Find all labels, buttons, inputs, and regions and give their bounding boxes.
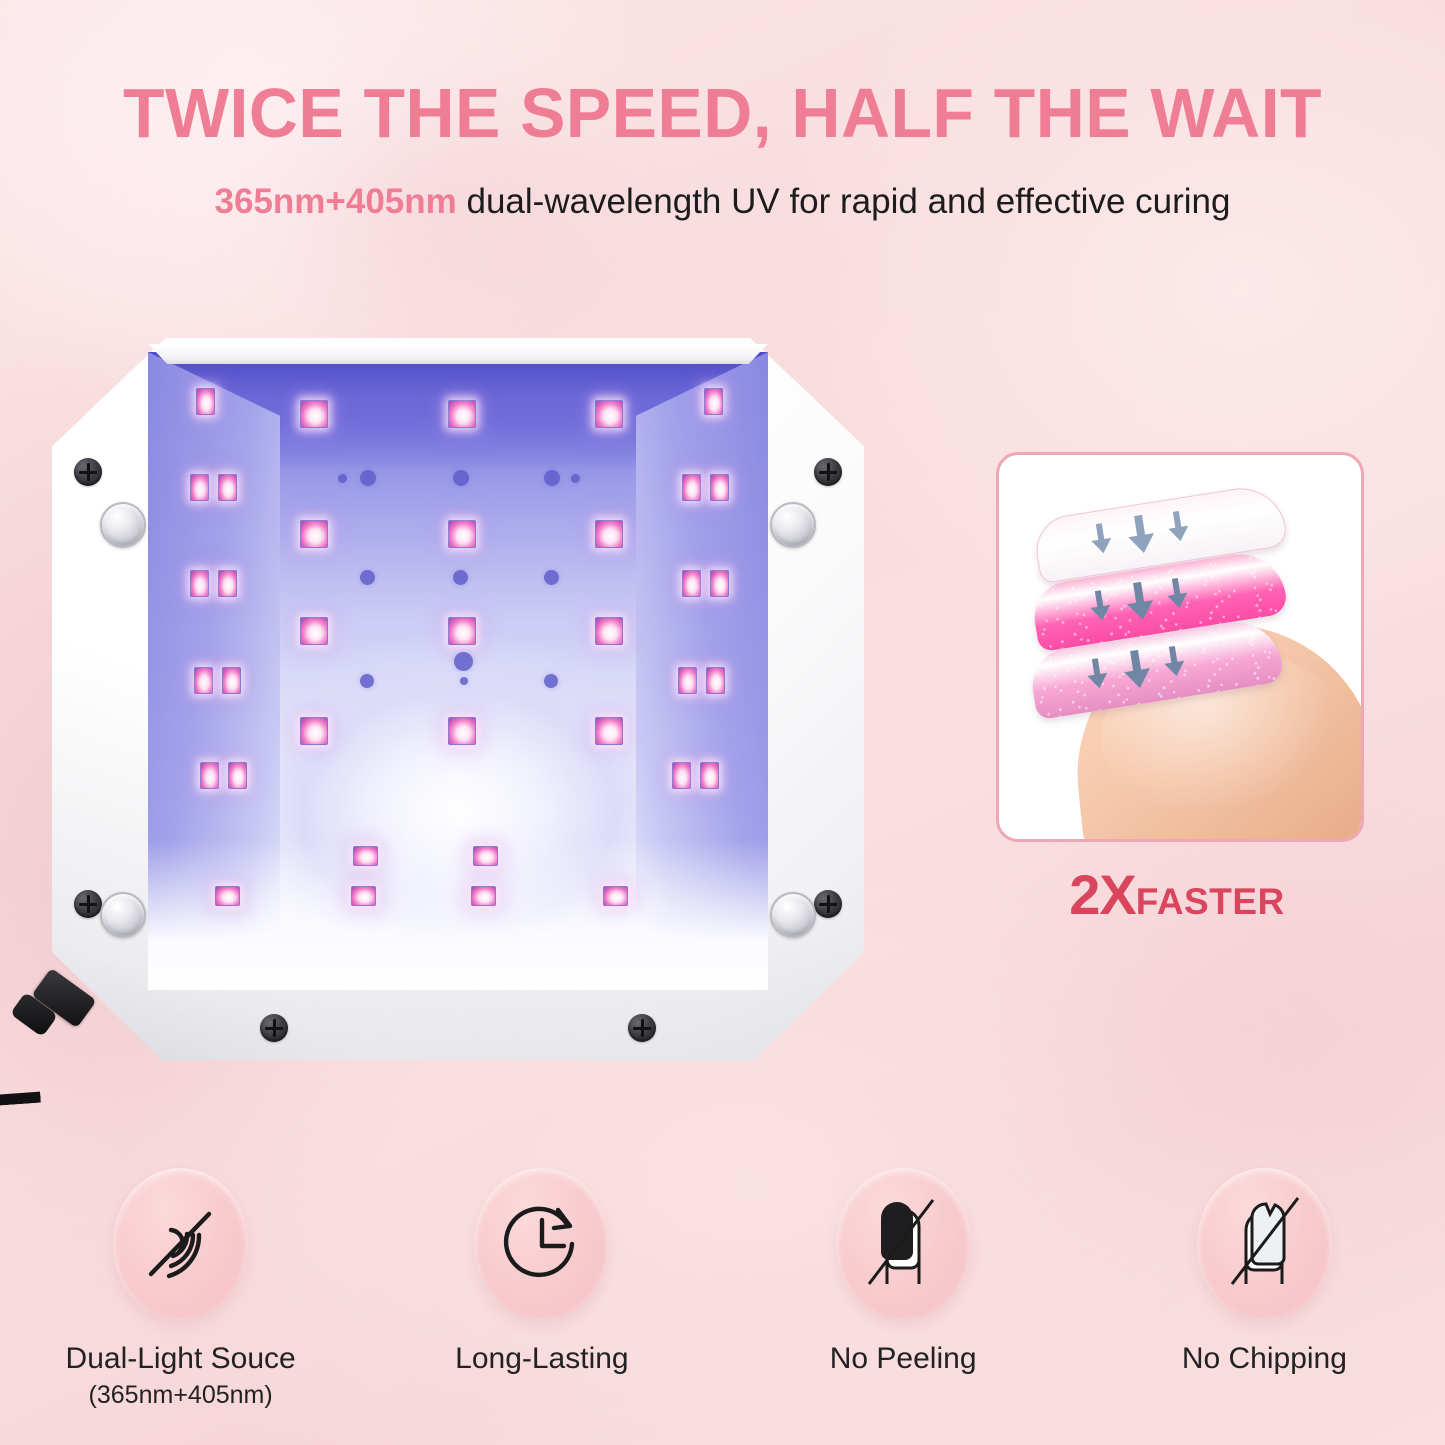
led-chip [603,886,628,906]
led-chip [300,617,328,645]
led-dot [544,674,558,688]
housing-screw [74,890,102,918]
feature-label: No Chipping [1182,1342,1347,1377]
led-chip [682,570,701,597]
faster-word: FASTER [1136,881,1285,922]
led-chip [672,762,691,789]
led-chip [190,570,209,597]
led-chip [706,667,725,694]
led-chip [448,617,476,645]
led-chip [710,474,729,501]
power-cable [0,1014,41,1113]
feature-dual-light-source: Dual-Light Souce (365nm+405nm) [0,1168,361,1410]
uv-lamp-device [52,338,864,1060]
feature-icon-bubble [1197,1168,1332,1320]
led-chip [595,717,623,745]
led-chip [222,667,241,694]
faster-multiplier: 2X [1069,863,1136,926]
feature-row: Dual-Light Souce (365nm+405nm) Long-Last… [0,1168,1445,1410]
led-chip [194,667,213,694]
housing-screw [628,1014,656,1042]
led-chip [448,520,476,548]
subheading-rest: dual-wavelength UV for rapid and effecti… [457,182,1231,221]
led-chip [448,400,476,428]
led-dot [360,674,374,688]
led-dot [453,470,469,486]
led-chip [595,617,623,645]
led-chip [300,520,328,548]
led-chip [595,520,623,548]
headline: TWICE THE SPEED, HALF THE WAIT [22,78,1424,148]
led-chip [353,846,378,866]
feature-label: Long-Lasting [455,1342,628,1377]
dual-light-rays-icon [137,1200,225,1288]
led-chip [471,886,496,906]
led-chip [196,388,215,415]
feature-label: Dual-Light Souce [66,1342,296,1377]
curing-arrows-icon [1082,507,1199,564]
led-chip [448,717,476,745]
metal-contact-pad [100,892,146,938]
led-chip [595,400,623,428]
led-chip [710,570,729,597]
feature-long-lasting: Long-Lasting [361,1168,722,1410]
led-dot [454,652,473,671]
led-chip [218,474,237,501]
led-chip [228,762,247,789]
led-chip [190,474,209,501]
led-chip [351,886,376,906]
faster-callout: 2XFASTER [996,862,1358,927]
housing-screw [814,458,842,486]
curing-chamber [148,352,768,990]
chamber-top-lip [142,344,774,364]
led-dot [338,474,347,483]
led-dot [544,570,559,585]
housing-screw [814,890,842,918]
feature-sublabel: (365nm+405nm) [89,1381,273,1410]
metal-contact-pad [770,502,816,548]
led-chip [300,400,328,428]
subheading-wavelengths: 365nm+405nm [215,182,457,221]
led-dot [571,474,580,483]
chamber-floor-glow [148,840,768,990]
feature-label: No Peeling [830,1342,977,1377]
led-chip [682,474,701,501]
feature-icon-bubble [474,1168,609,1320]
led-chip [704,388,723,415]
led-chip [700,762,719,789]
feature-no-chipping: No Chipping [1084,1168,1445,1410]
power-cord [0,975,138,1105]
led-chip [473,846,498,866]
led-dot [453,570,468,585]
subheading: 365nm+405nm dual-wavelength UV for rapid… [0,182,1445,222]
led-chip [300,717,328,745]
metal-contact-pad [100,502,146,548]
led-chip [218,570,237,597]
feature-icon-bubble [836,1168,971,1320]
led-chip [200,762,219,789]
led-dot [544,470,560,486]
led-dot [360,470,376,486]
gel-layers-inset-card [996,452,1364,842]
led-chip [678,667,697,694]
feature-no-peeling: No Peeling [723,1168,1084,1410]
clock-refresh-icon [498,1200,586,1288]
led-dot [460,677,468,685]
metal-contact-pad [770,892,816,938]
product-feature-graphic: TWICE THE SPEED, HALF THE WAIT 365nm+405… [0,0,1445,1445]
feature-icon-bubble [113,1168,248,1320]
led-chip [215,886,240,906]
led-dot [360,570,375,585]
housing-screw [260,1014,288,1042]
no-chipping-nail-icon [1218,1192,1310,1296]
no-peeling-nail-icon [857,1192,949,1296]
housing-screw [74,458,102,486]
